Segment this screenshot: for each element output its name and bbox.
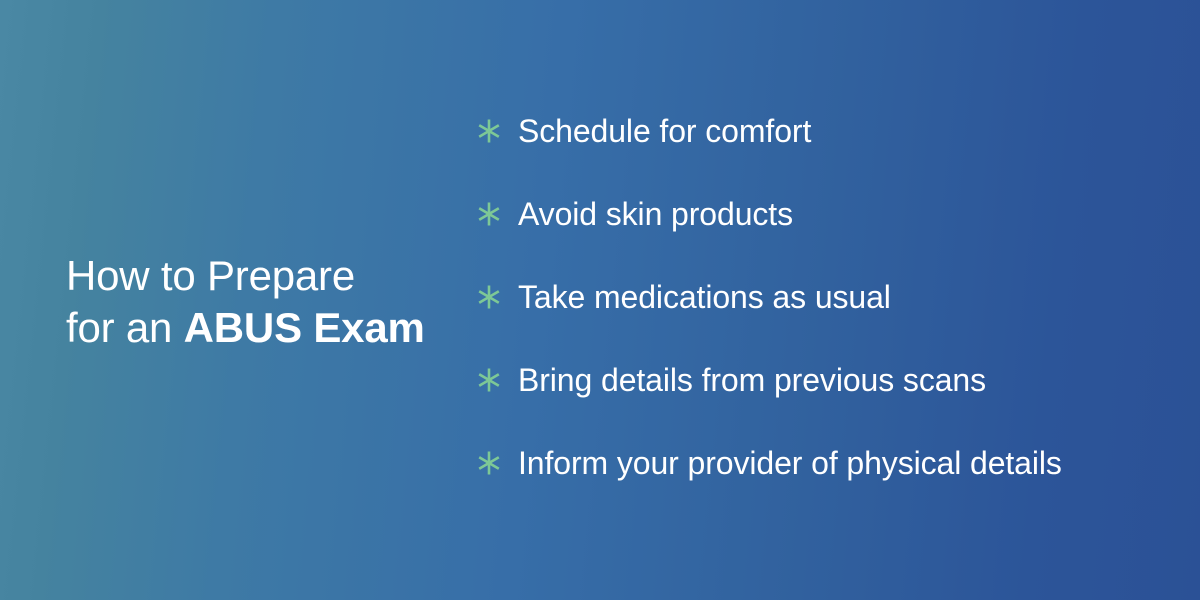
- title-line-2: for an ABUS Exam: [66, 302, 446, 354]
- title-line-1: How to Prepare: [66, 250, 446, 302]
- asterisk-icon: [476, 199, 502, 229]
- list-item-label: Inform your provider of physical details: [518, 443, 1062, 483]
- list-item-label: Schedule for comfort: [518, 111, 811, 151]
- list-item: Inform your provider of physical details: [476, 437, 1176, 489]
- list-item-label: Take medications as usual: [518, 277, 891, 317]
- page-title: How to Prepare for an ABUS Exam: [66, 250, 446, 354]
- list-item: Schedule for comfort: [476, 105, 1176, 157]
- title-line-2-prefix: for an: [66, 304, 184, 351]
- list-item: Avoid skin products: [476, 188, 1176, 240]
- asterisk-icon: [476, 116, 502, 146]
- slide-canvas: How to Prepare for an ABUS Exam Schedule…: [0, 0, 1200, 600]
- list-item: Take medications as usual: [476, 271, 1176, 323]
- preparation-checklist: Schedule for comfort Avoid skin products: [476, 105, 1176, 489]
- list-item-label: Bring details from previous scans: [518, 360, 986, 400]
- asterisk-icon: [476, 448, 502, 478]
- list-item: Bring details from previous scans: [476, 354, 1176, 406]
- list-item-label: Avoid skin products: [518, 194, 793, 234]
- title-line-2-emphasis: ABUS Exam: [184, 304, 425, 351]
- asterisk-icon: [476, 282, 502, 312]
- asterisk-icon: [476, 365, 502, 395]
